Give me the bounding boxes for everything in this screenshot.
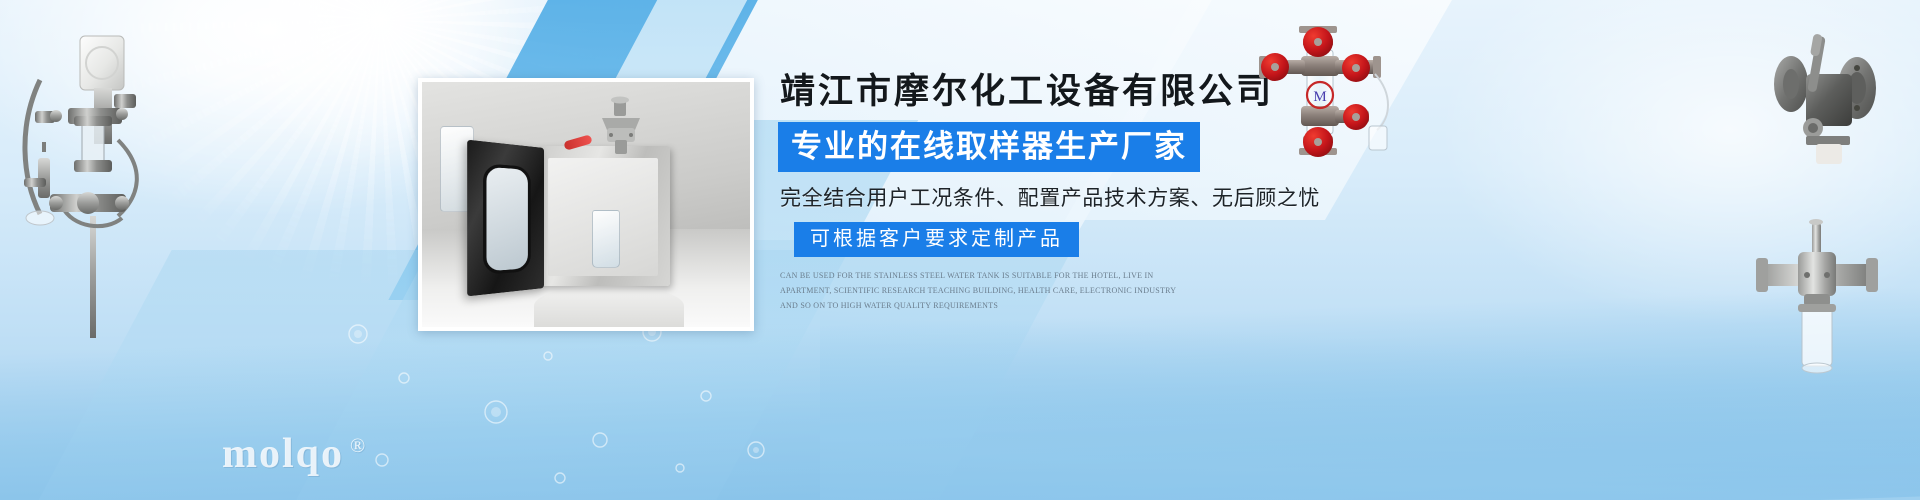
tagline-badge: 可根据客户要求定制产品	[794, 222, 1079, 257]
english-caption: CAN BE USED FOR THE STAINLESS STEEL WATE…	[780, 269, 1180, 313]
top-valve-head-icon	[590, 96, 652, 158]
promotional-banner: 靖江市摩尔化工设备有限公司 专业的在线取样器生产厂家 完全结合用户工况条件、配置…	[0, 0, 1920, 500]
cabinet-door	[467, 140, 544, 297]
stainless-sampling-cabinet-photo	[418, 78, 754, 331]
door-window	[483, 163, 531, 275]
photo-content	[422, 82, 750, 327]
sample-bottle	[592, 210, 620, 268]
sub-headline: 完全结合用户工况条件、配置产品技术方案、无后顾之忧	[780, 188, 1398, 209]
photo-pedestal	[534, 285, 684, 327]
watermark-logo: molqo®	[222, 430, 367, 478]
company-name: 靖江市摩尔化工设备有限公司	[780, 72, 1398, 111]
watermark-text: molqo	[222, 431, 344, 477]
headline-badge: 专业的在线取样器生产厂家	[778, 122, 1200, 172]
registered-mark-icon: ®	[350, 435, 367, 457]
banner-text-block: 靖江市摩尔化工设备有限公司 专业的在线取样器生产厂家 完全结合用户工况条件、配置…	[778, 72, 1398, 314]
